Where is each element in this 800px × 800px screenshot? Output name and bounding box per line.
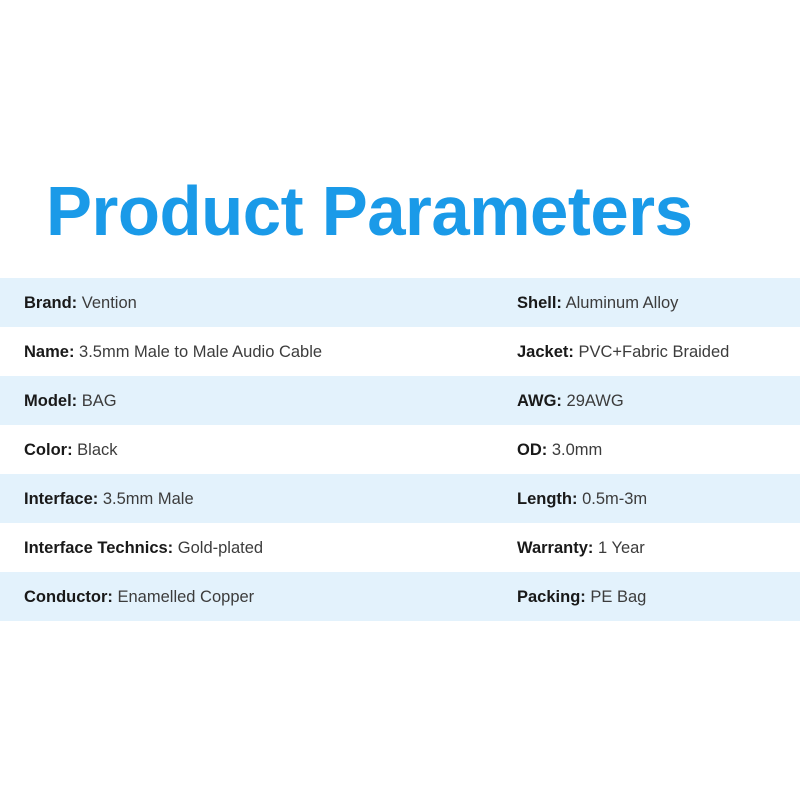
spec-label: Packing:	[517, 588, 586, 606]
spec-cell-left: Model: BAG	[24, 390, 117, 412]
spec-value: 3.5mm Male to Male Audio Cable	[79, 343, 322, 361]
table-row: Interface: 3.5mm MaleLength: 0.5m-3m	[0, 474, 800, 523]
spec-value: Enamelled Copper	[118, 588, 255, 606]
table-row: Color: BlackOD: 3.0mm	[0, 425, 800, 474]
spec-label: Jacket:	[517, 343, 574, 361]
spec-label: Color:	[24, 441, 73, 459]
spec-value: PE Bag	[590, 588, 646, 606]
spec-value: Vention	[82, 294, 137, 312]
spec-cell-right: Jacket: PVC+Fabric Braided	[517, 341, 729, 363]
spec-label: Length:	[517, 490, 577, 508]
spec-value: PVC+Fabric Braided	[578, 343, 729, 361]
spec-label: Warranty:	[517, 539, 593, 557]
spec-value: BAG	[82, 392, 117, 410]
specification-table: Brand: VentionShell: Aluminum AlloyName:…	[0, 278, 800, 621]
spec-label: Conductor:	[24, 588, 113, 606]
spec-cell-left: Interface: 3.5mm Male	[24, 488, 194, 510]
table-row: Brand: VentionShell: Aluminum Alloy	[0, 278, 800, 327]
product-parameters-page: Product Parameters Brand: VentionShell: …	[0, 0, 800, 800]
spec-label: Name:	[24, 343, 74, 361]
spec-cell-right: Packing: PE Bag	[517, 586, 646, 608]
spec-label: Model:	[24, 392, 77, 410]
spec-label: Shell:	[517, 294, 562, 312]
page-title: Product Parameters	[46, 166, 745, 256]
table-row: Name: 3.5mm Male to Male Audio CableJack…	[0, 327, 800, 376]
spec-cell-right: OD: 3.0mm	[517, 439, 602, 461]
spec-cell-left: Interface Technics: Gold-plated	[24, 537, 263, 559]
spec-cell-right: AWG: 29AWG	[517, 390, 624, 412]
spec-cell-right: Warranty: 1 Year	[517, 537, 645, 559]
spec-label: Brand:	[24, 294, 77, 312]
title-block: Product Parameters	[0, 166, 800, 262]
spec-value: 1 Year	[598, 539, 645, 557]
spec-value: Aluminum Alloy	[566, 294, 679, 312]
table-row: Conductor: Enamelled CopperPacking: PE B…	[0, 572, 800, 621]
spec-label: Interface Technics:	[24, 539, 173, 557]
spec-value: Gold-plated	[178, 539, 263, 557]
spec-value: 3.0mm	[552, 441, 602, 459]
spec-cell-right: Length: 0.5m-3m	[517, 488, 647, 510]
table-row: Model: BAGAWG: 29AWG	[0, 376, 800, 425]
spec-value: 29AWG	[567, 392, 624, 410]
spec-cell-right: Shell: Aluminum Alloy	[517, 292, 678, 314]
spec-value: 0.5m-3m	[582, 490, 647, 508]
spec-label: AWG:	[517, 392, 562, 410]
spec-label: OD:	[517, 441, 547, 459]
table-row: Interface Technics: Gold-platedWarranty:…	[0, 523, 800, 572]
spec-cell-left: Conductor: Enamelled Copper	[24, 586, 254, 608]
spec-value: 3.5mm Male	[103, 490, 194, 508]
spec-label: Interface:	[24, 490, 98, 508]
spec-value: Black	[77, 441, 117, 459]
spec-cell-left: Name: 3.5mm Male to Male Audio Cable	[24, 341, 322, 363]
spec-cell-left: Brand: Vention	[24, 292, 137, 314]
spec-cell-left: Color: Black	[24, 439, 118, 461]
